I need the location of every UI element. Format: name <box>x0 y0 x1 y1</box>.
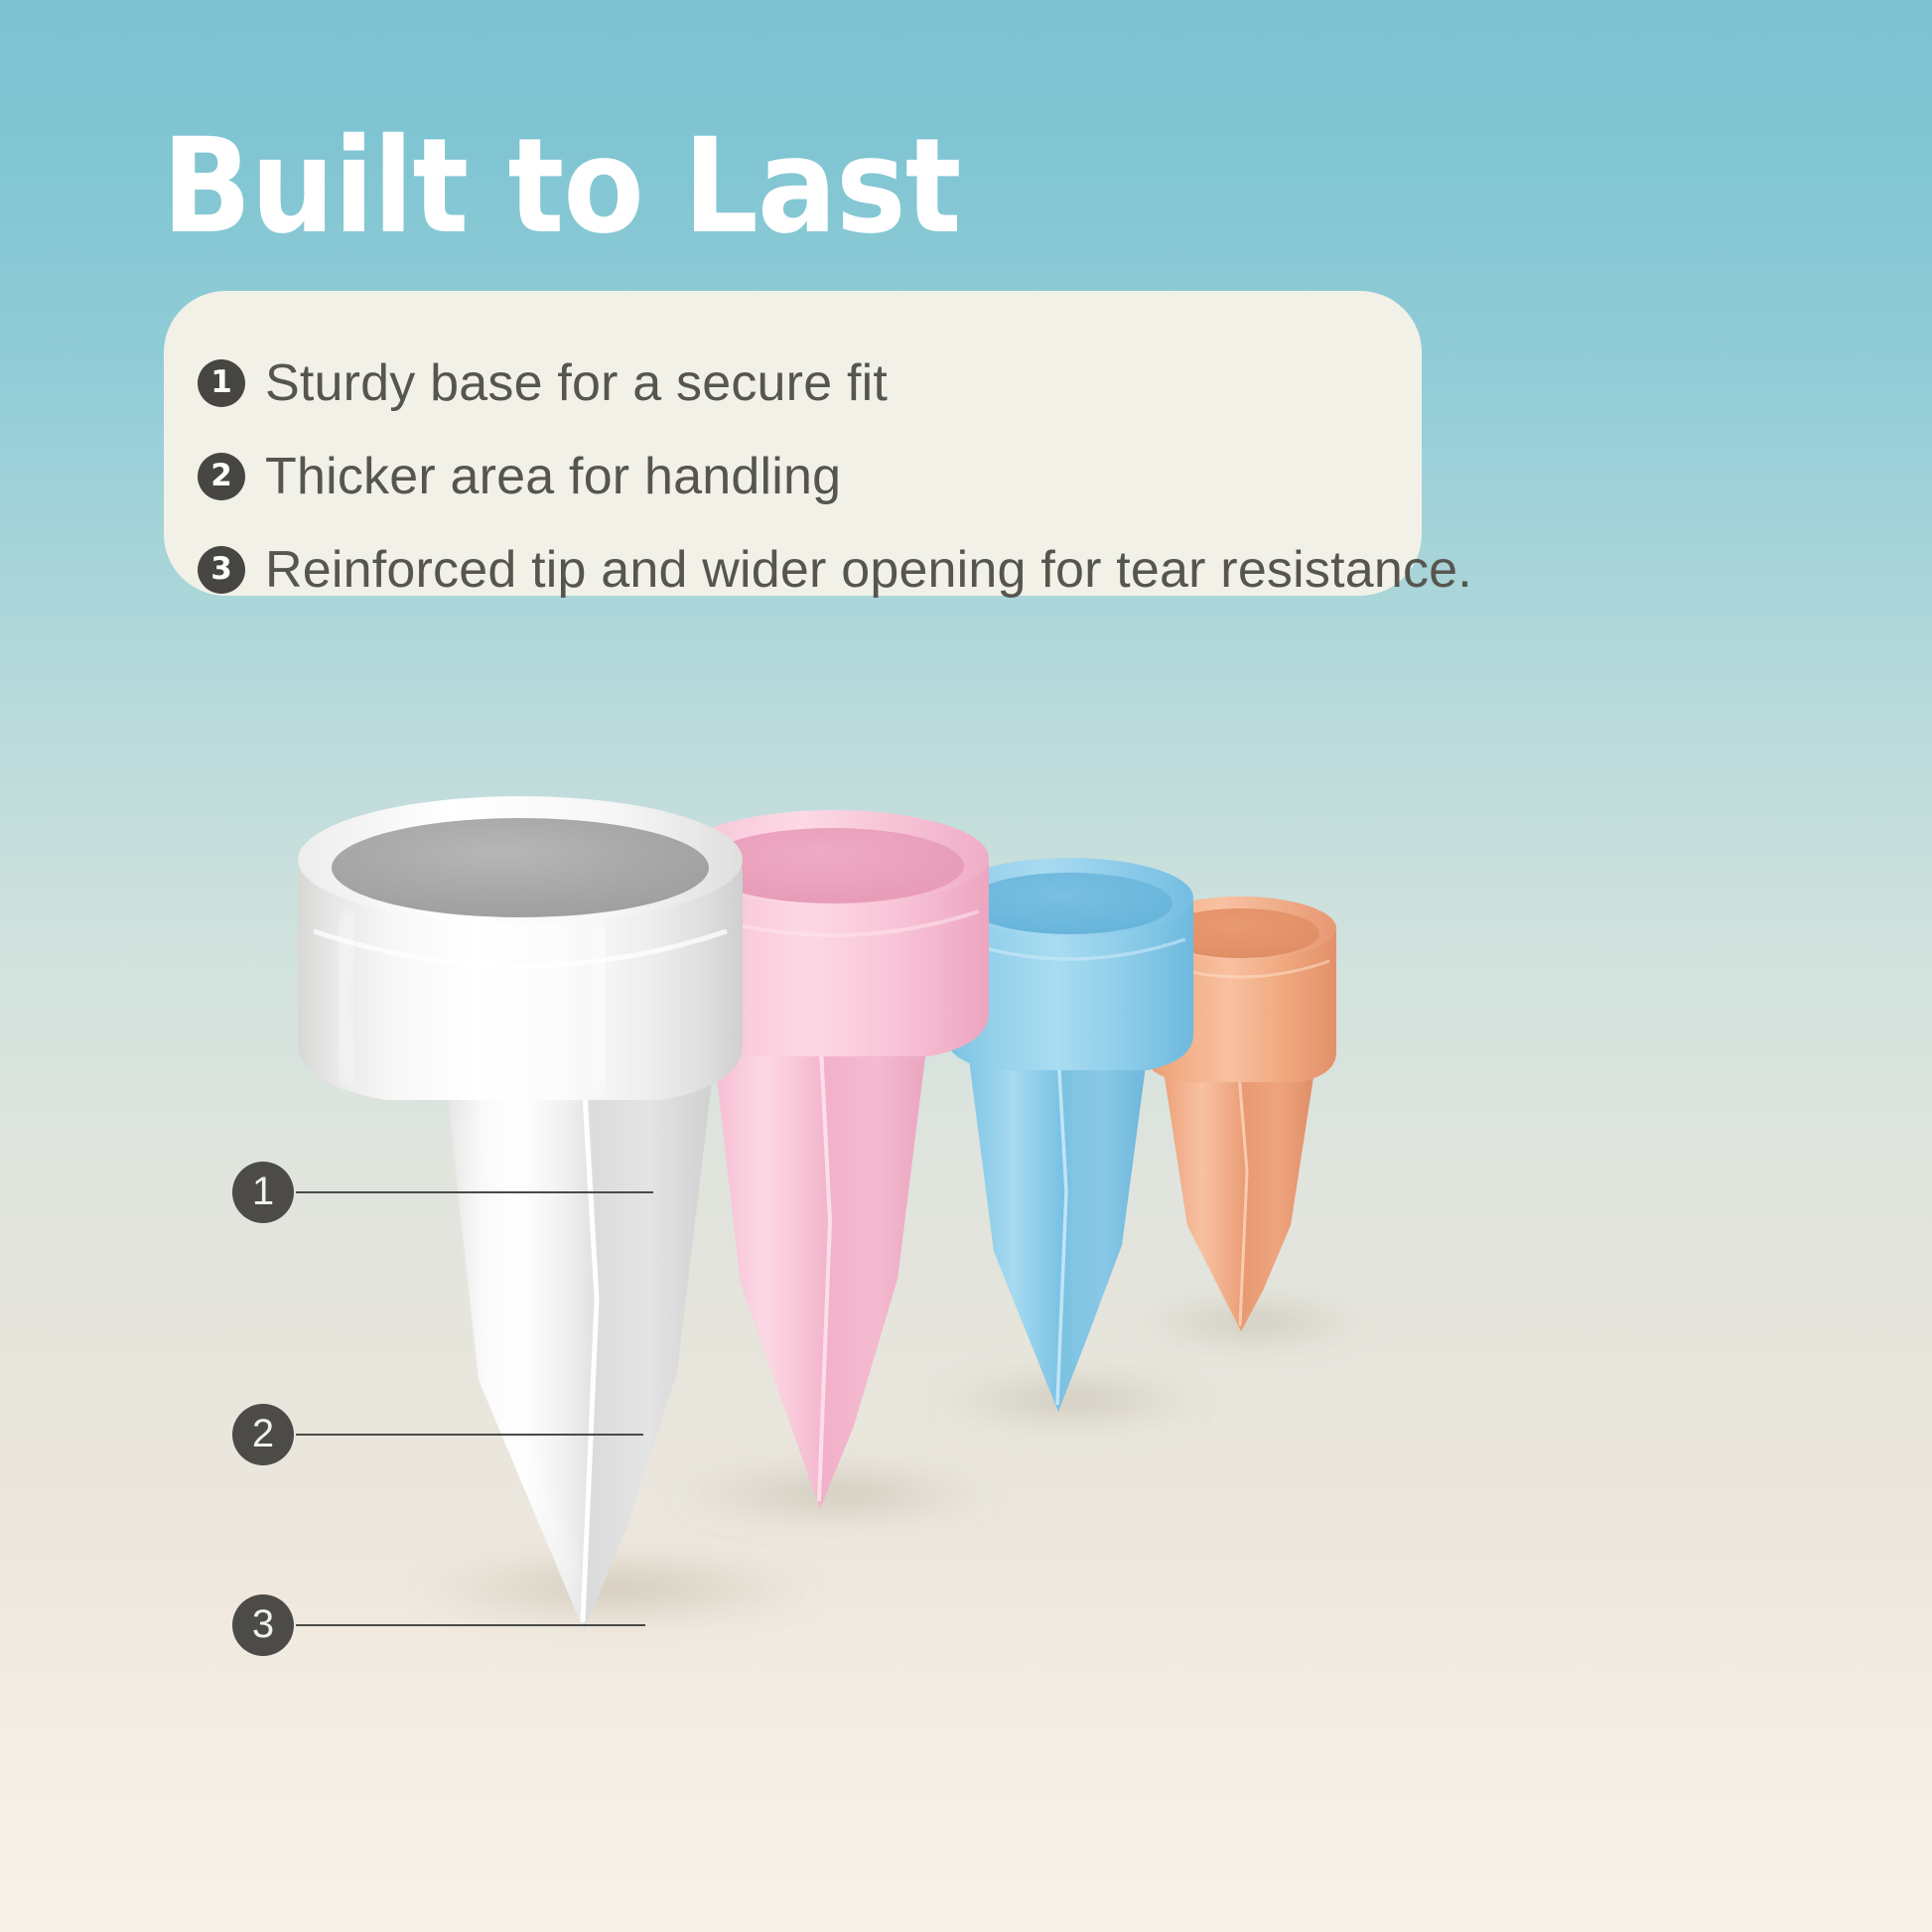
feature-list-card: 1 Sturdy base for a secure fit 2 Thicker… <box>164 291 1422 596</box>
white-cone-front-facet <box>445 1072 600 1630</box>
feature-item-2: 2 Thicker area for handling <box>198 430 1422 523</box>
blue-collar-inner-opening <box>966 873 1173 934</box>
callout-leader-line-2 <box>296 1434 643 1436</box>
infographic-canvas: Built to Last 1 Sturdy base for a secure… <box>0 0 1932 1932</box>
callout-leader-line-3 <box>296 1624 645 1626</box>
feature-item-1: 1 Sturdy base for a secure fit <box>198 337 1422 430</box>
orange-cone-front-facet <box>1164 1070 1249 1331</box>
orange-cone-right-facet <box>1241 1070 1314 1331</box>
callout-badge-1: 1 <box>232 1162 294 1223</box>
page-title: Built to Last <box>162 121 960 252</box>
pink-cone-right-facet <box>820 1025 929 1509</box>
feature-label-2: Thicker area for handling <box>265 447 841 506</box>
white-collar-left-highlight <box>343 913 349 1082</box>
callout-badge-3: 3 <box>232 1594 294 1656</box>
callout-leader-line-1 <box>296 1191 653 1193</box>
white-collar-right-highlight <box>596 923 602 1088</box>
blue-cone-front-facet <box>968 1050 1068 1412</box>
feature-number-badge-3: 3 <box>198 546 245 594</box>
callout-marker-3: 3 <box>232 1594 645 1656</box>
feature-label-3: Reinforced tip and wider opening for tea… <box>265 540 1472 600</box>
feature-label-1: Sturdy base for a secure fit <box>265 353 888 413</box>
feature-item-3: 3 Reinforced tip and wider opening for t… <box>198 523 1422 617</box>
pink-cone-front-facet <box>711 1025 832 1509</box>
feature-number-badge-1: 1 <box>198 359 245 407</box>
white-cone-right-facet <box>584 1072 713 1630</box>
blue-cone-right-facet <box>1058 1050 1148 1412</box>
feature-number-badge-2: 2 <box>198 453 245 500</box>
callout-marker-2: 2 <box>232 1404 643 1465</box>
callout-marker-1: 1 <box>232 1162 653 1223</box>
callout-badge-2: 2 <box>232 1404 294 1465</box>
white-collar-inner-opening <box>332 818 709 917</box>
